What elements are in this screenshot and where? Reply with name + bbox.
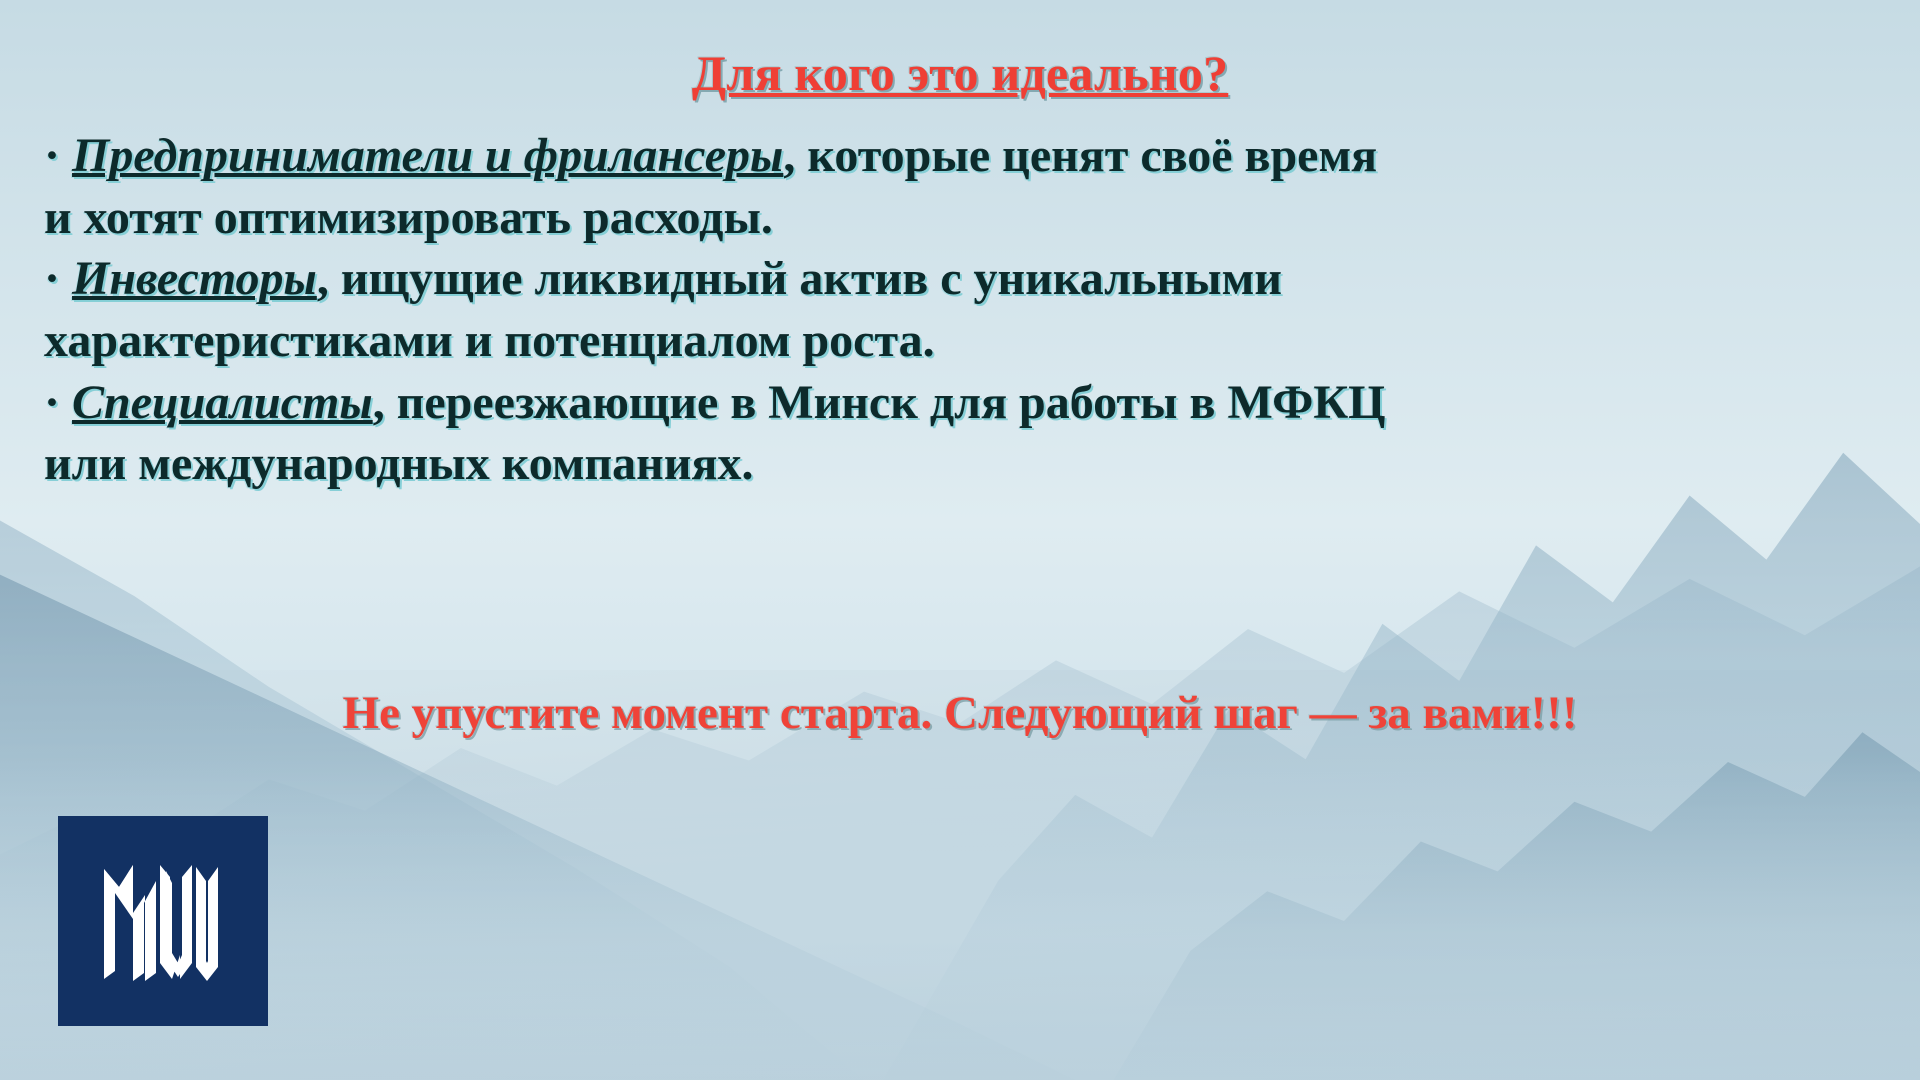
- bullet-lead-in: Предприниматели и фрилансеры: [72, 129, 783, 182]
- slide-content: Для кого это идеально? · Предприниматели…: [0, 0, 1920, 1080]
- brand-logo: [58, 816, 268, 1026]
- list-item: · Предприниматели и фрилансеры, которые …: [44, 128, 1884, 184]
- list-item: или международных компаниях.: [44, 436, 1884, 492]
- page-title: Для кого это идеально?: [0, 44, 1920, 102]
- list-item: характеристиками и потенциалом роста.: [44, 313, 1884, 369]
- bullet-list: · Предприниматели и фрилансеры, которые …: [44, 128, 1884, 498]
- list-item: и хотят оптимизировать расходы.: [44, 190, 1884, 246]
- bullet-body: , переезжающие в Минск для работы в МФКЦ: [373, 376, 1386, 429]
- list-item: · Инвесторы, ищущие ликвидный актив с ун…: [44, 251, 1884, 307]
- bullet-body: или международных компаниях.: [44, 437, 753, 490]
- bullet-body: и хотят оптимизировать расходы.: [44, 191, 773, 244]
- bullet-marker: ·: [44, 252, 60, 305]
- call-to-action-text: Не упустите момент старта. Следующий шаг…: [0, 686, 1920, 740]
- slide-canvas: Для кого это идеально? · Предприниматели…: [0, 0, 1920, 1080]
- list-item: · Специалисты, переезжающие в Минск для …: [44, 375, 1884, 431]
- bullet-body: характеристиками и потенциалом роста.: [44, 314, 935, 367]
- bullet-lead-in: Инвесторы: [72, 252, 317, 305]
- bullet-marker: ·: [44, 376, 60, 429]
- bullet-lead-in: Специалисты: [72, 376, 373, 429]
- bullet-body: , ищущие ликвидный актив с уникальными: [317, 252, 1282, 305]
- mw-monogram-icon: [88, 851, 238, 991]
- bullet-body: , которые ценят своё время: [783, 129, 1377, 182]
- bullet-marker: ·: [44, 129, 60, 182]
